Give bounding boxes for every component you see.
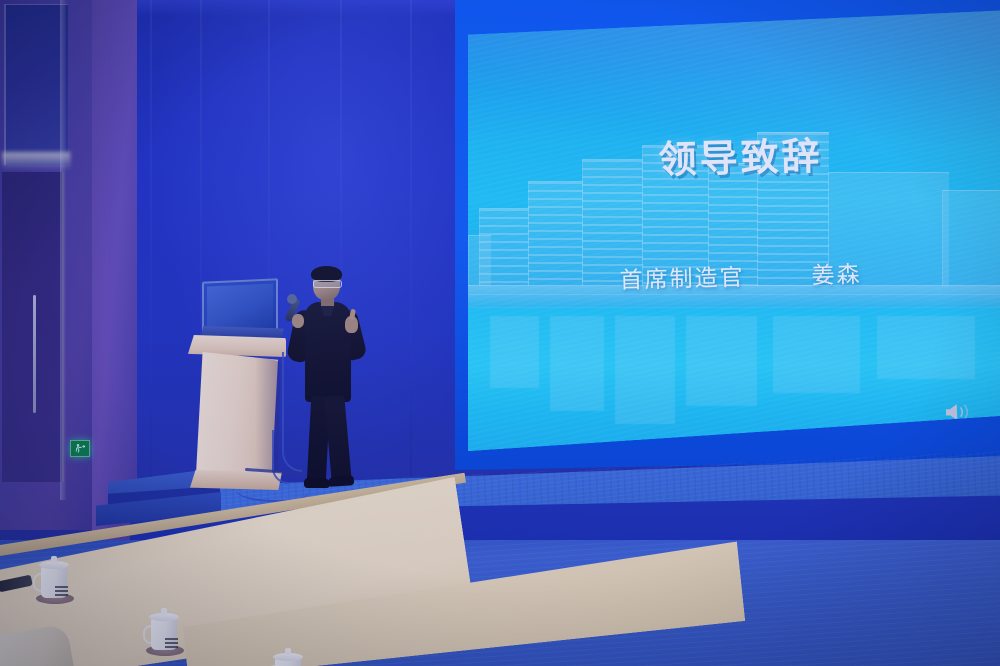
water-reflection — [877, 316, 975, 379]
presenter-torso — [305, 302, 351, 402]
cup-body — [41, 566, 67, 598]
microphone-head — [287, 294, 297, 304]
door-jamb — [60, 0, 66, 500]
cup-body — [151, 618, 177, 650]
tea-cup[interactable] — [148, 608, 182, 652]
wall-panel-seam — [410, 0, 412, 480]
cup-lid-knob — [285, 648, 291, 655]
cup-lid-knob — [51, 556, 57, 563]
tea-cup[interactable] — [38, 556, 72, 600]
monitor-screen — [207, 284, 273, 333]
glasses-icon — [313, 280, 342, 288]
wall-panel-seam — [150, 0, 152, 510]
water-reflection — [550, 316, 605, 411]
water-reflection — [490, 316, 539, 388]
cup-logo — [55, 586, 68, 596]
water-reflection — [773, 316, 860, 393]
door-upper-panel — [4, 4, 68, 165]
presenter-left-hand — [292, 314, 304, 328]
presenter-right-shoe — [328, 475, 355, 487]
presentation-screen[interactable]: 领导致辞 首席制造官 姜森 — [468, 10, 1000, 460]
door-handle[interactable] — [33, 295, 36, 413]
left-wall-pillar — [92, 0, 137, 540]
emergency-exit-sign — [70, 440, 90, 457]
slide-horizon-line — [468, 307, 1000, 308]
presenter-right-leg — [324, 395, 351, 482]
water-reflection — [686, 316, 757, 406]
water-reflection — [615, 316, 675, 424]
cup-lid-knob — [161, 608, 167, 615]
tea-cup[interactable] — [272, 648, 306, 666]
cup-logo — [165, 638, 178, 648]
presenter — [288, 268, 368, 494]
conference-hall-scene: 领导致辞 首席制造官 姜森 — [0, 0, 1000, 666]
presenter-left-shoe — [304, 478, 330, 488]
ceiling-edge — [130, 0, 470, 16]
